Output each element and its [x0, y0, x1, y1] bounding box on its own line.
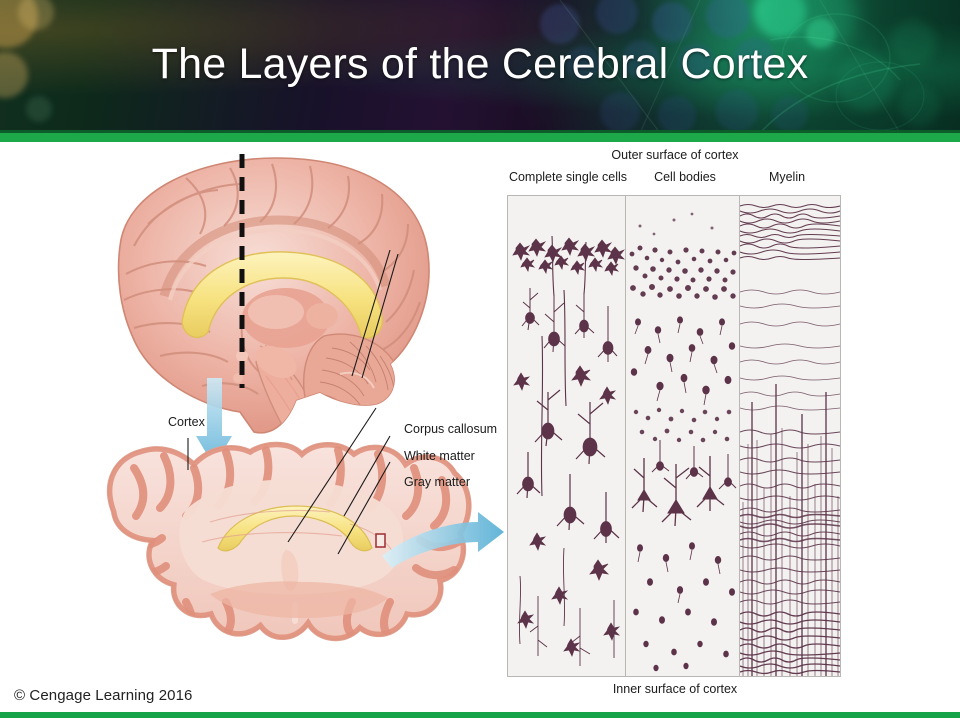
outer-surface-label: Outer surface of cortex: [495, 148, 855, 162]
label-white-matter: White matter: [404, 449, 475, 463]
panel-cell-bodies: [626, 196, 739, 676]
label-corpus-callosum: Corpus callosum: [404, 422, 497, 436]
panel-myelin: [740, 196, 840, 676]
golgi-stain-drawing: [508, 196, 625, 676]
inner-surface-label: Inner surface of cortex: [495, 682, 855, 696]
column-header-complete-single-cells: Complete single cells: [503, 170, 633, 184]
column-header-myelin: Myelin: [735, 170, 839, 184]
brain-diagram: Cortex Corpus callosum White matter Gray…: [90, 150, 510, 680]
label-cortex: Cortex: [168, 415, 205, 429]
sample-site-marker: [376, 534, 385, 547]
column-header-cell-bodies: Cell bodies: [635, 170, 735, 184]
label-gray-matter: Gray matter: [404, 475, 470, 489]
brain-coronal-section: [108, 408, 471, 640]
brain-diagram-svg: [90, 150, 510, 680]
nissl-stain-drawing: [626, 196, 739, 676]
header-accent-rule: [0, 133, 960, 142]
slide: The Layers of the Cerebral Cortex: [0, 0, 960, 720]
footer-accent-rule: [0, 712, 960, 718]
page-title: The Layers of the Cerebral Cortex: [0, 38, 960, 90]
slide-header-banner: The Layers of the Cerebral Cortex: [0, 0, 960, 133]
brain-sagittal-view: [119, 154, 429, 469]
myelin-stain-drawing: [740, 196, 840, 676]
cortex-layers-figure: Outer surface of cortex Complete single …: [495, 148, 855, 668]
copyright-text: © Cengage Learning 2016: [14, 687, 193, 704]
cortex-panels-frame: [507, 195, 841, 677]
panel-complete-single-cells: [508, 196, 625, 676]
column-headers: Complete single cells Cell bodies Myelin: [495, 170, 855, 188]
